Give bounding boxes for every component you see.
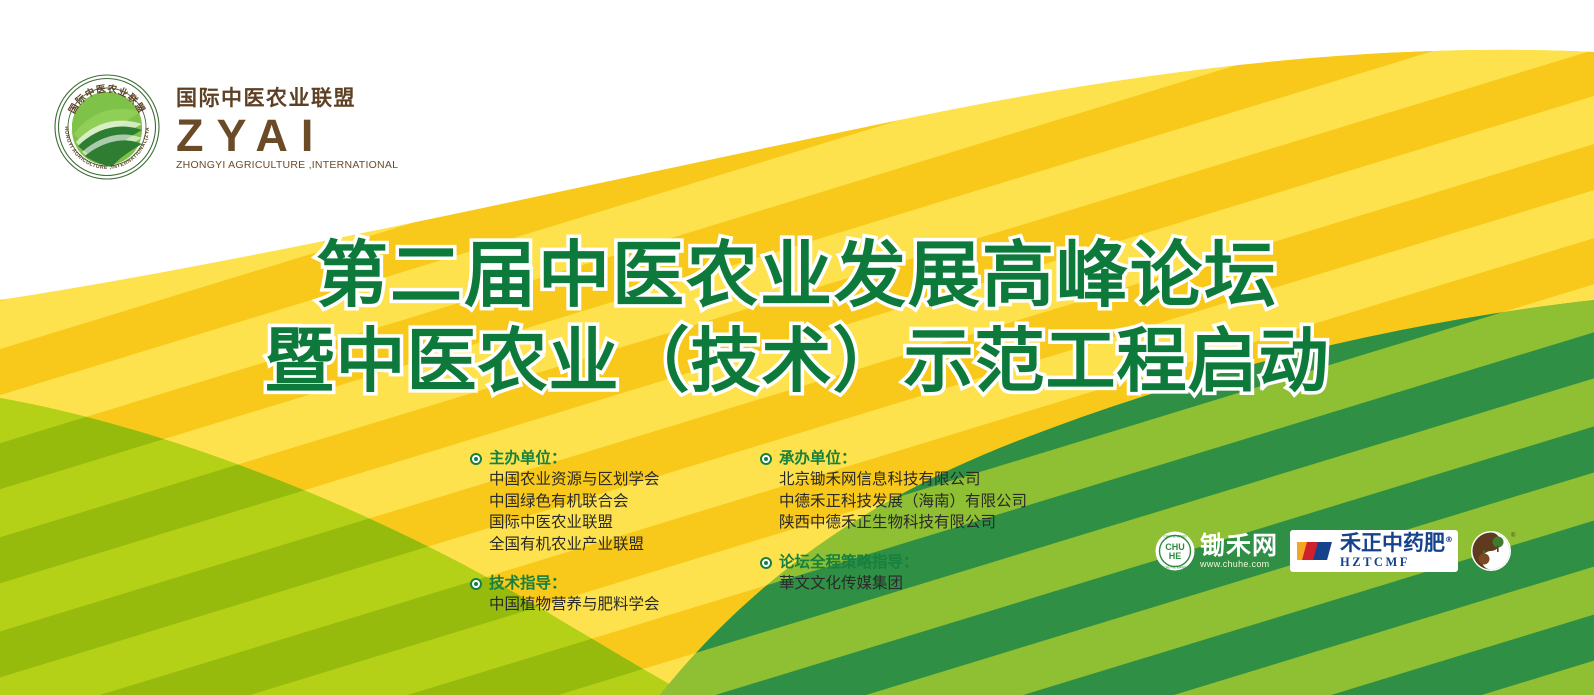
zyai-circular-seal-icon: 国际中医农业联盟 ZHONGYI AGRICULTURE ,INTERNATIO… <box>52 72 162 182</box>
list-item: 中国绿色有机联合会 <box>489 491 718 513</box>
credit-group-co-organizers: 承办单位： 北京锄禾网信息科技有限公司 中德禾正科技发展（海南）有限公司 陕西中… <box>760 448 1050 534</box>
credit-heading-label: 主办单位： <box>489 448 567 469</box>
list-item: 国际中医农业联盟 <box>489 512 718 534</box>
sponsor-logo-tree-seal: ® <box>1470 528 1516 574</box>
list-item: 華文文化传媒集团 <box>779 573 1050 595</box>
list-item: 中国农业资源与区划学会 <box>489 469 718 491</box>
sponsor-name-en-hztcmf: HZTCMF <box>1340 556 1453 569</box>
sponsor-logo-chuhe: CHU HE CHU HE WANG CHU HE WANG 锄禾网 www.c… <box>1155 531 1278 571</box>
title-line-1: 第二届中医农业发展高峰论坛 <box>0 232 1594 318</box>
sponsor-logo-hztcmf: 禾正中药肥® HZTCMF <box>1290 530 1458 572</box>
brand-name-en: ZHONGYI AGRICULTURE ,INTERNATIONAL <box>176 159 398 171</box>
credit-group-technical-guidance: 技术指导： 中国植物营养与肥料学会 <box>470 573 718 616</box>
list-item: 陕西中德禾正生物科技有限公司 <box>779 512 1050 534</box>
ring-bullet-icon <box>760 557 772 569</box>
tree-root-seal-logo-icon: ® <box>1470 528 1516 574</box>
svg-text:CHU HE WANG: CHU HE WANG <box>1164 535 1187 539</box>
svg-text:HE: HE <box>1169 551 1182 561</box>
poster-title: 第二届中医农业发展高峰论坛 暨中医农业（技术）示范工程启动 <box>0 232 1594 404</box>
svg-text:CHU HE WANG: CHU HE WANG <box>1164 566 1187 570</box>
sponsor-name-chuhe: 锄禾网 <box>1200 533 1278 558</box>
list-item: 全国有机农业产业联盟 <box>489 534 718 556</box>
credit-item-list: 中国农业资源与区划学会 中国绿色有机联合会 国际中医农业联盟 全国有机农业产业联… <box>470 469 718 555</box>
list-item: 中国植物营养与肥料学会 <box>489 594 718 616</box>
credit-item-list: 北京锄禾网信息科技有限公司 中德禾正科技发展（海南）有限公司 陕西中德禾正生物科… <box>760 469 1050 534</box>
credit-heading: 技术指导： <box>470 573 718 594</box>
ring-bullet-icon <box>760 453 772 465</box>
credit-heading-label: 承办单位： <box>779 448 857 469</box>
credit-group-organizers: 主办单位： 中国农业资源与区划学会 中国绿色有机联合会 国际中医农业联盟 全国有… <box>470 448 718 555</box>
event-poster: 国际中医农业联盟 ZHONGYI AGRICULTURE ,INTERNATIO… <box>0 0 1594 695</box>
credit-heading-label: 技术指导： <box>489 573 567 594</box>
title-line-2: 暨中医农业（技术）示范工程启动 <box>0 318 1594 404</box>
credits-column-right: 承办单位： 北京锄禾网信息科技有限公司 中德禾正科技发展（海南）有限公司 陕西中… <box>760 448 1050 616</box>
organization-logo: 国际中医农业联盟 ZHONGYI AGRICULTURE ,INTERNATIO… <box>52 72 398 182</box>
chuhe-circle-logo-icon: CHU HE CHU HE WANG CHU HE WANG <box>1155 531 1195 571</box>
ring-bullet-icon <box>470 453 482 465</box>
sponsor-url-chuhe: www.chuhe.com <box>1200 560 1278 569</box>
credit-heading: 承办单位： <box>760 448 1050 469</box>
sponsor-logos: CHU HE CHU HE WANG CHU HE WANG 锄禾网 www.c… <box>1155 528 1516 574</box>
sponsor-name-hztcmf: 禾正中药肥® <box>1340 533 1453 554</box>
credit-item-list: 華文文化传媒集团 <box>760 573 1050 595</box>
svg-text:®: ® <box>1511 532 1516 539</box>
brand-name-cn: 国际中医农业联盟 <box>176 87 398 110</box>
ring-bullet-icon <box>470 578 482 590</box>
hzt-wordmark: 禾正中药肥® HZTCMF <box>1340 533 1453 569</box>
list-item: 北京锄禾网信息科技有限公司 <box>779 469 1050 491</box>
brand-wordmark: 国际中医农业联盟 ZYAI ZHONGYI AGRICULTURE ,INTER… <box>176 83 398 170</box>
sponsor-name-hztcmf-label: 禾正中药肥 <box>1340 531 1445 555</box>
credit-heading: 论坛全程策略指导： <box>760 552 1050 573</box>
list-item: 中德禾正科技发展（海南）有限公司 <box>779 491 1050 513</box>
chuhe-wordmark: 锄禾网 www.chuhe.com <box>1200 533 1278 569</box>
brand-abbreviation: ZYAI <box>176 113 398 158</box>
trademark-symbol: ® <box>1445 535 1453 544</box>
hzt-z-stripe-logo-icon <box>1295 536 1335 566</box>
credits-section: 主办单位： 中国农业资源与区划学会 中国绿色有机联合会 国际中医农业联盟 全国有… <box>470 448 1050 616</box>
credits-column-left: 主办单位： 中国农业资源与区划学会 中国绿色有机联合会 国际中医农业联盟 全国有… <box>470 448 718 616</box>
credit-heading-label: 论坛全程策略指导： <box>779 552 919 573</box>
credit-heading: 主办单位： <box>470 448 718 469</box>
credit-item-list: 中国植物营养与肥料学会 <box>470 594 718 616</box>
credit-group-strategy-guidance: 论坛全程策略指导： 華文文化传媒集团 <box>760 552 1050 595</box>
